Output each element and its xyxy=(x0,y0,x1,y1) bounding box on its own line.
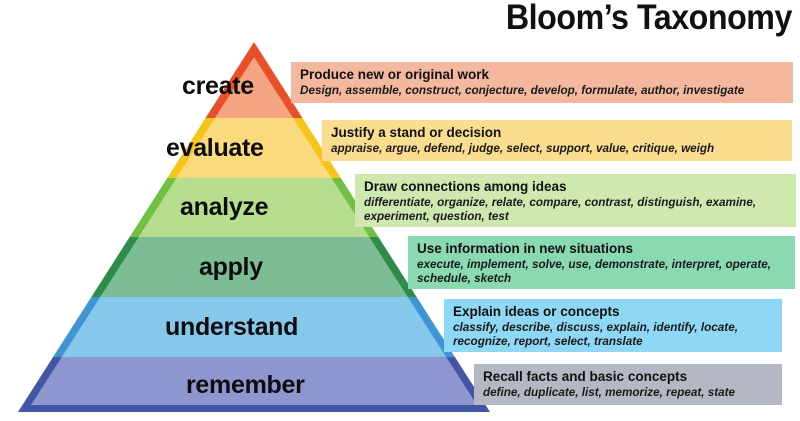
description-verbs-understand: classify, describe, discuss, explain, id… xyxy=(453,321,773,350)
description-box-evaluate: Justify a stand or decision appraise, ar… xyxy=(322,120,792,161)
description-title-evaluate: Justify a stand or decision xyxy=(331,125,783,141)
description-verbs-remember: define, duplicate, list, memorize, repea… xyxy=(483,386,773,401)
description-title-create: Produce new or original work xyxy=(300,67,784,83)
tier-label-analyze: analyze xyxy=(180,193,268,222)
description-title-analyze: Draw connections among ideas xyxy=(364,179,787,195)
description-verbs-apply: execute, implement, solve, use, demonstr… xyxy=(417,258,786,287)
blooms-taxonomy-diagram: Bloom’s Taxonomy xyxy=(0,0,800,421)
description-title-understand: Explain ideas or concepts xyxy=(453,304,773,320)
tier-label-create: create xyxy=(182,72,254,101)
description-box-understand: Explain ideas or concepts classify, desc… xyxy=(444,299,782,352)
description-verbs-create: Design, assemble, construct, conjecture,… xyxy=(300,84,784,99)
tier-label-understand: understand xyxy=(165,313,298,342)
description-title-remember: Recall facts and basic concepts xyxy=(483,369,773,385)
page-title: Bloom’s Taxonomy xyxy=(506,0,792,38)
tier-label-apply: apply xyxy=(199,253,263,282)
description-box-analyze: Draw connections among ideas differentia… xyxy=(355,174,796,227)
description-title-apply: Use information in new situations xyxy=(417,241,786,257)
description-box-create: Produce new or original work Design, ass… xyxy=(291,62,793,103)
description-verbs-evaluate: appraise, argue, defend, judge, select, … xyxy=(331,142,783,157)
description-box-remember: Recall facts and basic concepts define, … xyxy=(474,364,782,405)
description-verbs-analyze: differentiate, organize, relate, compare… xyxy=(364,196,787,225)
description-box-apply: Use information in new situations execut… xyxy=(408,236,795,289)
tier-label-evaluate: evaluate xyxy=(166,134,264,163)
tier-label-remember: remember xyxy=(186,371,305,400)
